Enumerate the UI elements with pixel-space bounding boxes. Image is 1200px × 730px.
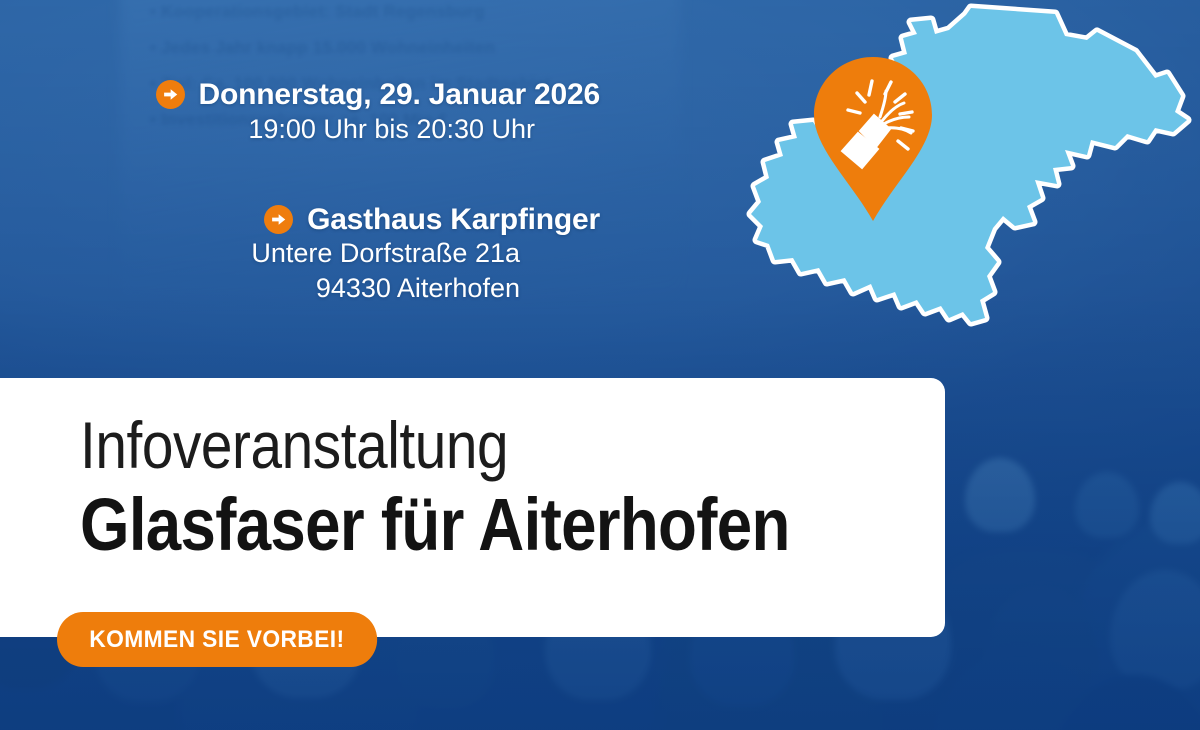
title-card-content: Infoveranstaltung Glasfaser für Aiterhof… bbox=[80, 412, 915, 564]
map-pin-marker bbox=[812, 55, 934, 223]
event-time-subline: 19:00 Uhr bis 20:30 Uhr bbox=[0, 112, 600, 147]
arrow-right-circle-icon bbox=[264, 205, 293, 234]
title-card: Infoveranstaltung Glasfaser für Aiterhof… bbox=[0, 378, 945, 637]
event-date-row: Donnerstag, 29. Januar 2026 bbox=[0, 78, 600, 112]
card-title: Glasfaser für Aiterhofen bbox=[80, 487, 798, 564]
event-promo-banner: • Kooperationsgebiet: Stadt Regensburg •… bbox=[0, 0, 1200, 730]
event-venue-street: Untere Dorfstraße 21a bbox=[0, 236, 600, 271]
event-date-headline: Donnerstag, 29. Januar 2026 bbox=[199, 78, 600, 112]
aiterhofen-municipality-map bbox=[735, 0, 1200, 390]
event-venue-name: Gasthaus Karpfinger bbox=[307, 203, 600, 237]
card-eyebrow: Infoveranstaltung bbox=[80, 412, 798, 479]
event-venue-block: Gasthaus Karpfinger Untere Dorfstraße 21… bbox=[0, 203, 600, 307]
event-venue-row: Gasthaus Karpfinger bbox=[0, 203, 600, 237]
map-outline-shape bbox=[725, 8, 1187, 322]
event-date-block: Donnerstag, 29. Januar 2026 19:00 Uhr bi… bbox=[0, 78, 600, 147]
event-venue-city: 94330 Aiterhofen bbox=[0, 271, 600, 306]
event-details: Donnerstag, 29. Januar 2026 19:00 Uhr bi… bbox=[0, 78, 600, 306]
cta-button[interactable]: KOMMEN SIE VORBEI! bbox=[57, 612, 377, 667]
arrow-right-circle-icon bbox=[156, 80, 185, 109]
